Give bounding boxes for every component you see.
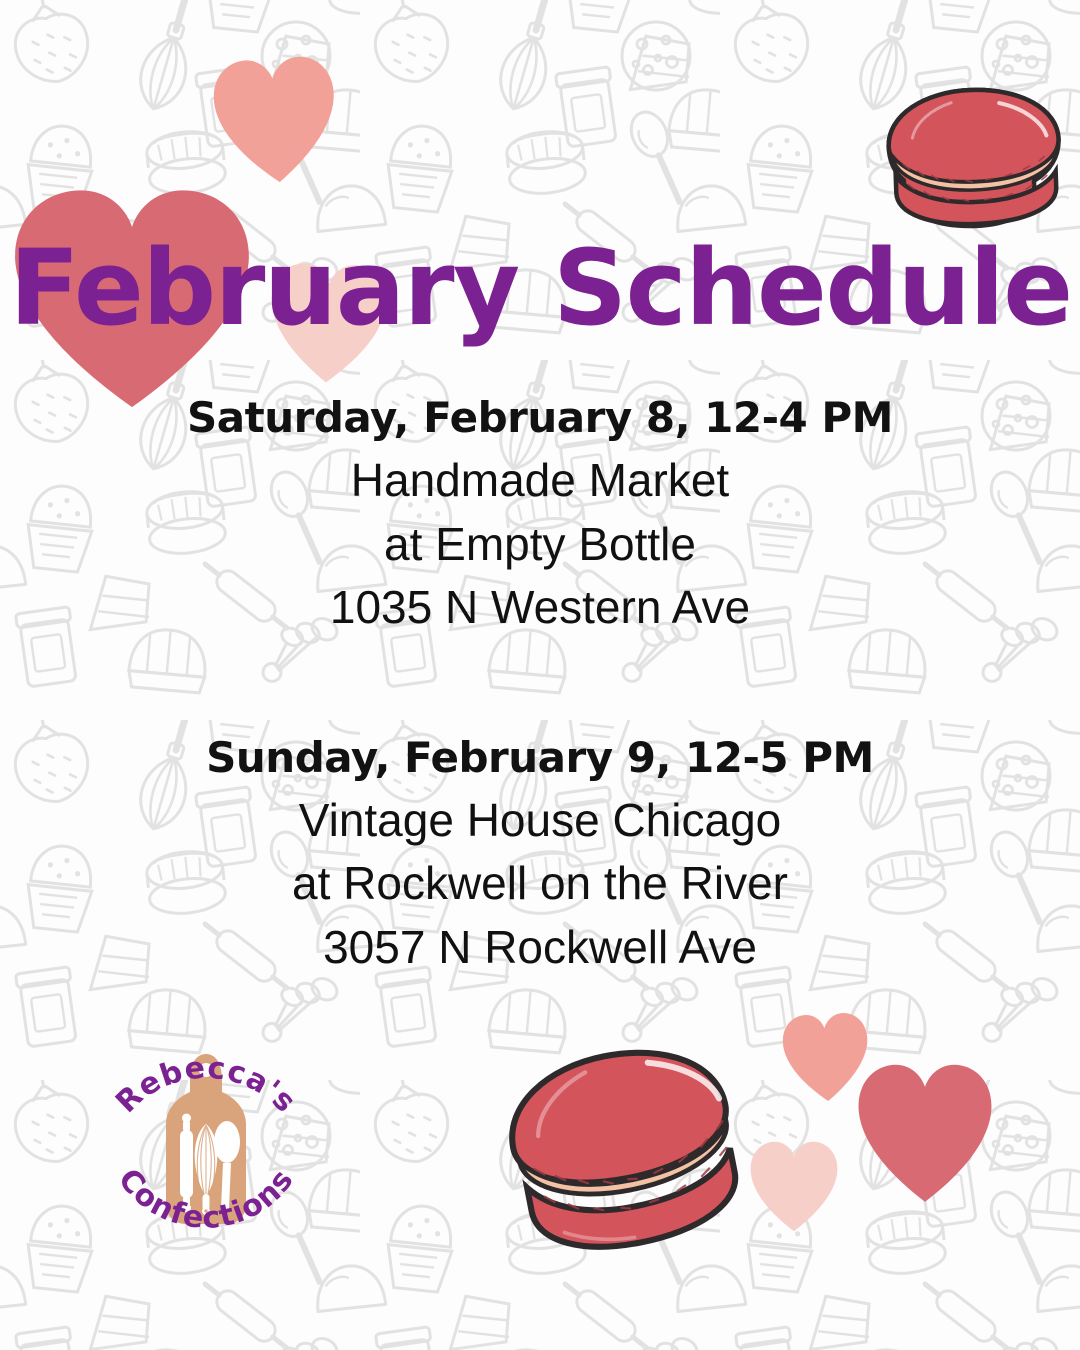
brand-logo: Rebecca's Confections: [90, 1018, 322, 1268]
event-location: at Empty Bottle: [0, 513, 1080, 576]
heart-bottom-rose: [855, 1062, 995, 1206]
events-list: Saturday, February 8, 12-4 PM Handmade M…: [0, 392, 1080, 979]
event-block-sunday: Sunday, February 9, 12-5 PM Vintage Hous…: [0, 732, 1080, 980]
macaron-top-right: [870, 75, 1075, 234]
poster-canvas: February Schedule Saturday, February 8, …: [0, 0, 1080, 1350]
event-block-saturday: Saturday, February 8, 12-4 PM Handmade M…: [0, 392, 1080, 640]
heart-top-salmon: [209, 51, 343, 191]
heart-top-rose: [8, 188, 256, 412]
event-venue: Handmade Market: [0, 449, 1080, 512]
event-address: 1035 N Western Ave: [0, 576, 1080, 639]
event-address: 3057 N Rockwell Ave: [0, 916, 1080, 979]
event-venue: Vintage House Chicago: [0, 789, 1080, 852]
event-date: Sunday, February 9, 12-5 PM: [0, 732, 1080, 783]
event-location: at Rockwell on the River: [0, 852, 1080, 915]
event-date: Saturday, February 8, 12-4 PM: [0, 392, 1080, 443]
heart-top-blush: [266, 260, 390, 388]
